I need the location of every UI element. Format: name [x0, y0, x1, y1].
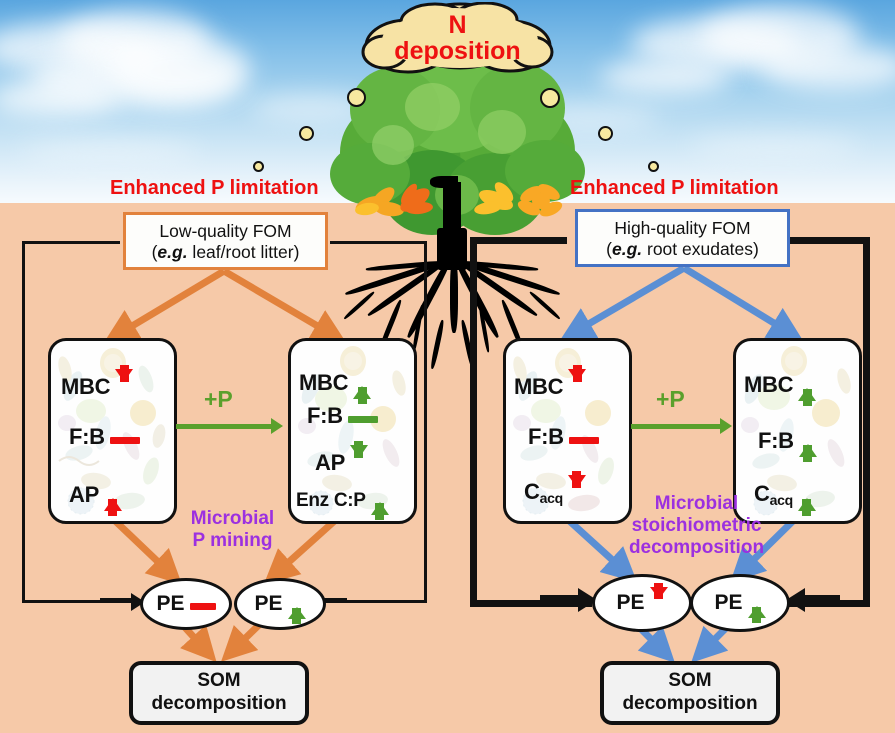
- cloud-puff: [20, 140, 200, 162]
- metric-label: Enz C:P: [296, 490, 366, 512]
- metric-row: Enz C:P: [296, 481, 389, 520]
- metric-row: F:B: [758, 419, 817, 462]
- metric-label: MBC: [61, 374, 110, 400]
- left-treatment-label: +P: [204, 386, 233, 413]
- cloud-puff: [600, 60, 730, 94]
- right-mechanism-label: Microbial stoichiometric decomposition: [614, 493, 779, 559]
- trend-up-icon: [353, 361, 371, 404]
- right-som-line1: SOM: [622, 670, 757, 693]
- right-box-before[interactable]: MBC F:B Cacq: [503, 338, 632, 524]
- trend-down-icon: [115, 365, 133, 408]
- metric-label: AP: [69, 482, 99, 508]
- left-pe-before[interactable]: PE: [140, 578, 232, 630]
- right-fom-line2: (e.g. root exudates): [586, 239, 779, 260]
- pe-label: PE: [254, 592, 282, 616]
- metric-label: MBC: [514, 374, 563, 400]
- pe-label: PE: [156, 592, 184, 616]
- right-som-box[interactable]: SOM decomposition: [600, 661, 780, 725]
- metric-row: F:B: [528, 424, 599, 450]
- trend-flat-icon: [110, 424, 140, 450]
- left-pe-after[interactable]: PE: [234, 578, 326, 630]
- n-deposition-line1: N: [448, 12, 466, 38]
- trend-up-icon: [798, 363, 816, 406]
- left-box-after[interactable]: MBC F:B AP Enz C:P: [288, 338, 417, 524]
- metric-row: AP: [315, 441, 368, 484]
- right-fom-box[interactable]: High-quality FOM (e.g. root exudates): [575, 209, 790, 267]
- left-mechanism-line2: P mining: [165, 530, 300, 552]
- n-particle-icon: [299, 126, 314, 141]
- left-fom-line2: (e.g. leaf/root litter): [134, 242, 317, 263]
- trend-down-icon: [350, 441, 368, 484]
- left-panel-header: Enhanced P limitation: [110, 177, 319, 200]
- pe-label: PE: [714, 591, 742, 615]
- left-fom-line1: Low-quality FOM: [134, 221, 317, 242]
- autumn-leaf: [393, 180, 441, 227]
- n-particle-icon: [598, 126, 613, 141]
- trend-up-icon: [798, 473, 816, 516]
- right-treatment-label: +P: [656, 386, 685, 413]
- frame-arrow-stem: [100, 598, 134, 602]
- metric-row: Cacq: [524, 471, 586, 514]
- n-deposition-label: N deposition: [360, 6, 555, 70]
- left-som-line1: SOM: [151, 670, 286, 693]
- trend-down-icon: [650, 583, 668, 623]
- metric-row: MBC: [744, 363, 816, 406]
- metric-label: F:B: [528, 424, 564, 450]
- trend-down-icon: [568, 471, 586, 514]
- left-fom-box[interactable]: Low-quality FOM (e.g. leaf/root litter): [123, 212, 328, 270]
- cloud-puff: [690, 135, 860, 157]
- trend-up-icon: [799, 419, 817, 462]
- left-box-before[interactable]: MBC F:B AP: [48, 338, 177, 524]
- metric-subscript: acq: [540, 490, 563, 506]
- metric-label: AP: [315, 450, 345, 476]
- trend-flat-icon: [348, 403, 378, 429]
- n-particle-icon: [648, 161, 659, 172]
- right-som-line2: decomposition: [622, 693, 757, 716]
- left-mechanism-line1: Microbial: [165, 508, 300, 530]
- metric-label: Cacq: [524, 479, 563, 506]
- n-particle-icon: [540, 88, 560, 108]
- right-panel-header: Enhanced P limitation: [570, 177, 779, 200]
- metric-label: F:B: [307, 403, 343, 429]
- trend-up-icon: [748, 583, 766, 623]
- frame-arrow-stem: [800, 595, 840, 603]
- autumn-leaf: [515, 178, 573, 229]
- metric-label: MBC: [744, 372, 793, 398]
- metric-label: MBC: [299, 370, 348, 396]
- frame-arrow-stem: [540, 595, 582, 603]
- cloud-puff: [110, 35, 250, 105]
- right-mechanism-line3: decomposition: [614, 537, 779, 559]
- right-mechanism-line1: Microbial: [614, 493, 779, 515]
- figure-canvas: N deposition: [0, 0, 895, 733]
- metric-label: F:B: [758, 428, 794, 454]
- right-pe-before[interactable]: PE: [592, 574, 692, 632]
- n-deposition-line2: deposition: [394, 38, 520, 64]
- metric-row: AP: [69, 473, 122, 516]
- trend-down-icon: [568, 365, 586, 408]
- right-mechanism-line2: stoichiometric: [614, 515, 779, 537]
- tree-root: [450, 258, 458, 333]
- metric-row: MBC: [514, 365, 586, 408]
- trend-up-icon: [371, 481, 389, 520]
- trend-up-icon: [104, 473, 122, 516]
- metric-row: F:B: [69, 424, 140, 450]
- metric-row: MBC: [299, 361, 371, 404]
- n-particle-icon: [347, 88, 366, 107]
- trend-up-icon: [288, 584, 306, 624]
- right-treatment-arrow: [631, 424, 721, 429]
- metric-label: F:B: [69, 424, 105, 450]
- pe-label: PE: [616, 591, 644, 615]
- right-pe-after[interactable]: PE: [690, 574, 790, 632]
- right-fom-line1: High-quality FOM: [586, 218, 779, 239]
- left-mechanism-label: Microbial P mining: [165, 508, 300, 552]
- trend-flat-icon: [190, 592, 216, 616]
- trend-flat-icon: [569, 424, 599, 450]
- n-particle-icon: [253, 161, 264, 172]
- left-som-box[interactable]: SOM decomposition: [129, 661, 309, 725]
- metric-row: MBC: [61, 365, 133, 408]
- metric-row: F:B: [307, 403, 378, 429]
- left-treatment-arrow: [176, 424, 272, 429]
- left-som-line2: decomposition: [151, 693, 286, 716]
